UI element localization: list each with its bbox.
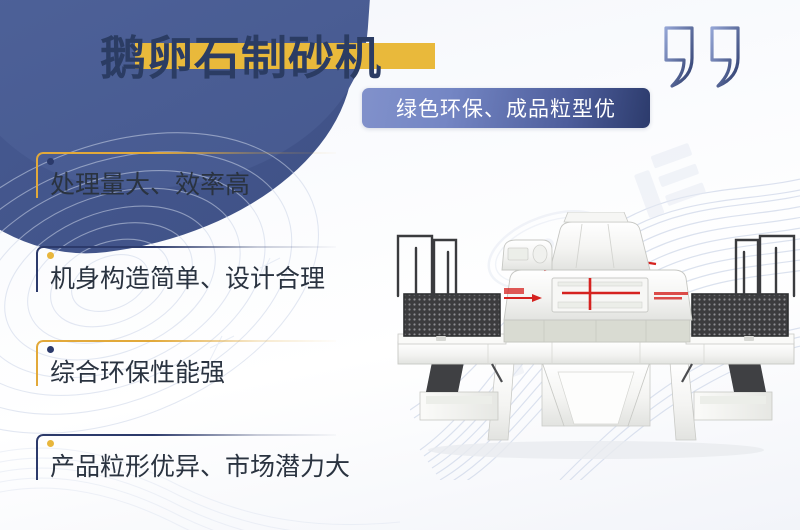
closing-quote-icon [660,22,752,92]
feature-bullet-dot [47,158,54,165]
feature-label: 处理量大、效率高 [50,167,250,203]
page-title: 鹅卵石制砂机 [100,26,382,94]
feature-bullet-dot [47,252,54,259]
product-banner: 鹅卵石制砂机 绿色环保、成品粒型优 处理量大、效率高 [0,0,800,530]
feature-label: 综合环保性能强 [50,355,225,391]
feature-list: 处理量大、效率高 机身构造简单、设计合理 综合环保性能强 产品粒形优异、市场潜力… [36,152,416,528]
feature-item-2: 机身构造简单、设计合理 [36,246,416,308]
subtitle-text: 绿色环保、成品粒型优 [396,93,616,123]
feature-bullet-dot [47,440,54,447]
subtitle-banner: 绿色环保、成品粒型优 [362,88,650,128]
feature-label: 机身构造简单、设计合理 [50,261,325,297]
feature-bullet-dot [47,346,54,353]
feature-item-1: 处理量大、效率高 [36,152,416,214]
feature-label: 产品粒形优异、市场潜力大 [50,449,350,485]
product-image [392,212,800,472]
page-title-text: 鹅卵石制砂机 [100,26,382,90]
feature-item-3: 综合环保性能强 [36,340,416,402]
feature-item-4: 产品粒形优异、市场潜力大 [36,434,416,496]
